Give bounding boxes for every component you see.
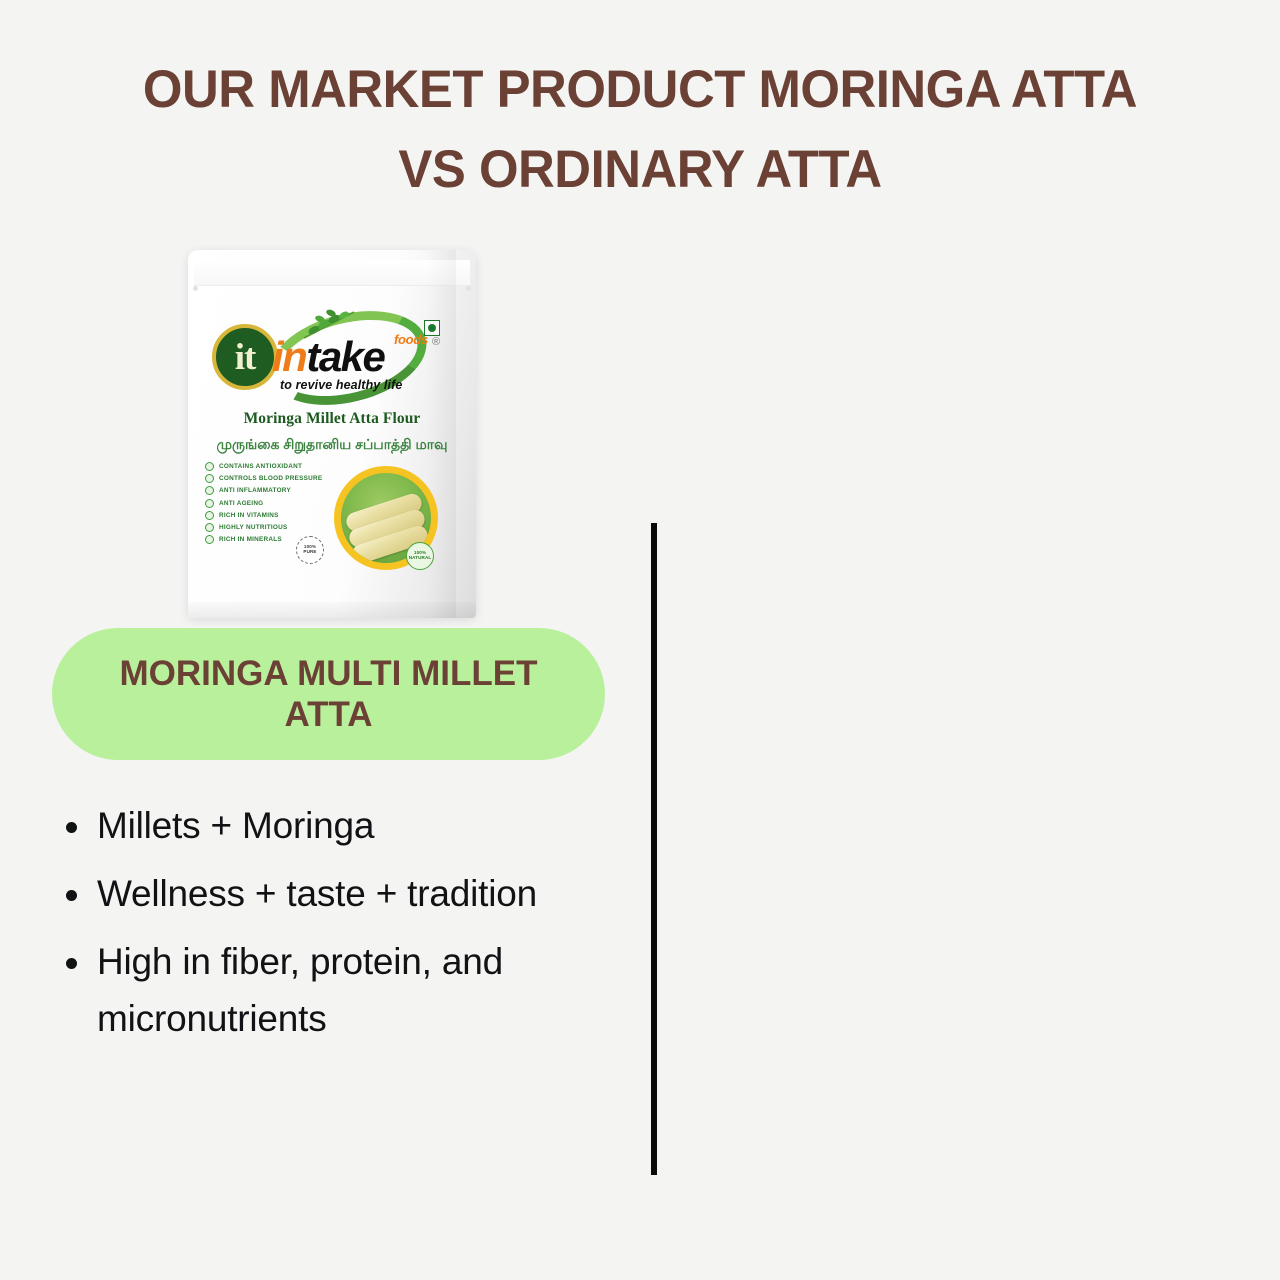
package-benefit-item: Contains antioxidant [205, 462, 337, 471]
package-notch-left [193, 286, 198, 291]
logo-wordmark: intake [272, 336, 384, 378]
benefit-bullet-icon [205, 499, 214, 508]
benefit-bullet-icon [205, 486, 214, 495]
logo-text-in: in [272, 333, 306, 380]
package-notch-right [466, 286, 471, 291]
benefit-bullet-icon [205, 511, 214, 520]
benefit-bullet-icon [205, 523, 214, 532]
logo-text-it: it [235, 339, 256, 376]
certification-badge-pure: 100% PURE [296, 536, 324, 564]
benefit-label: Anti ageing [219, 500, 263, 507]
package-benefit-item: Highly nutritious [205, 523, 337, 532]
benefit-bullet-icon [205, 535, 214, 544]
benefit-label: Controls blood pressure [219, 475, 322, 482]
logo-circle-icon: it [212, 324, 278, 390]
package-benefit-item: Anti ageing [205, 499, 337, 508]
label-moringa-multi-millet-atta: MORINGA MULTI MILLET ATTA [52, 628, 605, 760]
package-product-name-tamil: முருங்கை சிறுதானிய சப்பாத்தி மாவு [188, 436, 476, 455]
benefits-list-moringa: Millets + Moringa Wellness + taste + tra… [57, 798, 647, 1059]
benefit-label: Anti inflammatory [219, 487, 291, 494]
registered-trademark-icon: ® [432, 336, 440, 348]
package-product-name: Moringa Millet Atta Flour [188, 410, 476, 428]
list-item: Millets + Moringa [57, 798, 647, 854]
brand-logo: it intake foods ® to revive healthy life [206, 312, 458, 404]
certification-badge-natural: 100% NATURAL [406, 542, 434, 570]
comparison-container: it intake foods ® to revive healthy life… [0, 0, 1280, 1280]
package-benefit-list: Contains antioxidant Controls blood pres… [205, 462, 337, 547]
benefit-label: Highly nutritious [219, 524, 288, 531]
comparison-column-right: ORDINARY ATTA Wheat or rice only Basic f… [653, 0, 1280, 1280]
package-benefit-item: Controls blood pressure [205, 474, 337, 483]
vegetarian-mark-icon [424, 320, 440, 336]
benefit-label: Contains antioxidant [219, 463, 302, 470]
comparison-column-left: it intake foods ® to revive healthy life… [0, 0, 653, 1280]
benefit-bullet-icon [205, 462, 214, 471]
benefit-bullet-icon [205, 474, 214, 483]
list-item: Wellness + taste + tradition [57, 866, 647, 922]
list-item: High in fiber, protein, and micronutrien… [57, 934, 647, 1046]
package-benefit-item: Rich in vitamins [205, 511, 337, 520]
product-package-image: it intake foods ® to revive healthy life… [188, 250, 476, 618]
benefit-label: Rich in vitamins [219, 512, 279, 519]
package-benefit-item: Anti inflammatory [205, 486, 337, 495]
package-bottom-gusset [188, 602, 476, 618]
brand-tagline: to revive healthy life [280, 378, 402, 392]
logo-text-foods: foods [394, 332, 428, 347]
logo-text-take: take [306, 333, 384, 380]
benefit-label: Rich in minerals [219, 536, 282, 543]
